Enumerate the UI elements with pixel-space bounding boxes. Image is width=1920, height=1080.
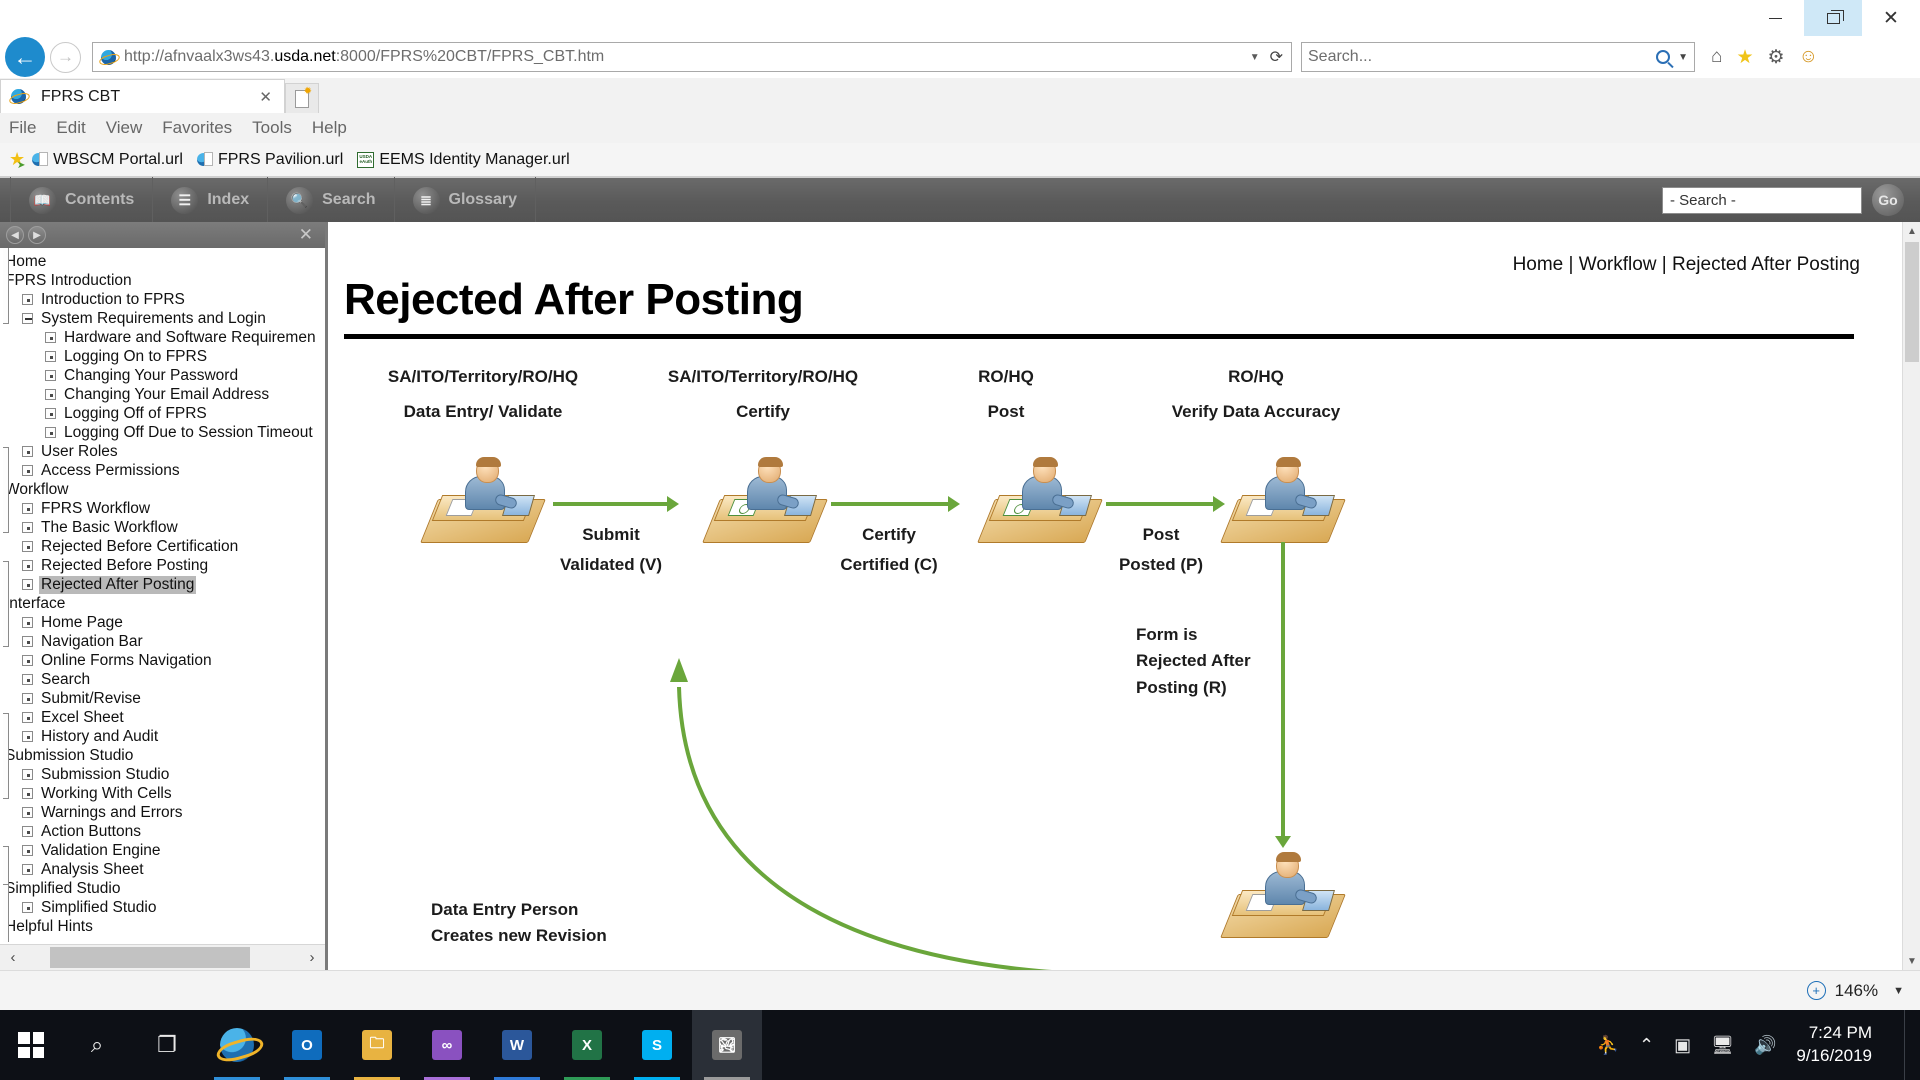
collapse-icon[interactable] [22,313,33,324]
toc-item-logging-off-of-fprs[interactable]: Logging Off of FPRS [0,404,325,423]
return-note-line1: Data Entry Person [431,897,607,923]
tree-node-icon[interactable] [3,561,9,647]
toc-item-label: Action Buttons [39,823,143,841]
outlook-glyph: O [292,1030,322,1060]
toc-item-online-forms-navigation[interactable]: Online Forms Navigation [0,651,325,670]
node-1-role: SA/ITO/Territory/RO/HQ [633,362,893,392]
toc-item-system-requirements-and-login[interactable]: System Requirements and Login [0,309,325,328]
cbt-search-label: Search [322,191,375,209]
toc-item-label: User Roles [39,443,120,461]
expand-icon[interactable] [22,693,33,704]
browser-window: ✕ ← → http://afnvaalx3ws43.usda.net:8000… [0,0,1920,1080]
expand-icon[interactable] [22,560,33,571]
toc-item-fprs-workflow[interactable]: FPRS Workflow [0,499,325,518]
toc-item-submission-studio[interactable]: Submission Studio [0,746,325,765]
toc-item-label: Working With Cells [39,785,174,803]
search-icon: 🔍 [286,187,313,214]
toc-item-user-roles[interactable]: User Roles [0,442,325,461]
node-2-role: RO/HQ [916,362,1096,392]
toc-item-rejected-before-certification[interactable]: Rejected Before Certification [0,537,325,556]
toc-item-label: Introduction to FPRS [39,291,187,309]
toc-item-label: Hardware and Software Requiremen [62,329,318,347]
expand-icon[interactable] [22,579,33,590]
taskbar-item-excel[interactable]: X [552,1010,622,1080]
toc-item-simplified-studio[interactable]: Simplified Studio [0,879,325,898]
toc-item-label: Online Forms Navigation [39,652,214,670]
toc-item-interface[interactable]: Interface [0,594,325,613]
workflow-diagram: SA/ITO/Territory/RO/HQ Data Entry/ Valid… [331,352,1902,970]
new-tab-button[interactable] [285,83,319,113]
menu-help[interactable]: Help [312,118,347,138]
excel-glyph: X [572,1030,602,1060]
toc-item-label: Logging On to FPRS [62,348,209,366]
toc-item-submit-revise[interactable]: Submit/Revise [0,689,325,708]
toc-item-label: Helpful Hints [3,918,95,936]
toc-item-label: Rejected After Posting [39,576,196,594]
toc-item-warnings-and-errors[interactable]: Warnings and Errors [0,803,325,822]
tree-node-icon[interactable] [3,447,9,533]
navigation-pane: ◀ ▶ ✕ HomeFPRS IntroductionIntroduction … [0,222,328,970]
clock-time: 7:24 PM [1796,1022,1872,1045]
ie-document-icon [32,152,48,168]
tree-node-icon[interactable] [3,248,9,324]
menu-edit[interactable]: Edit [56,118,85,138]
toc-item-hardware-and-software-requiremen[interactable]: Hardware and Software Requiremen [0,328,325,347]
transition-0-line2: Validated (V) [531,550,691,580]
word-glyph: W [502,1030,532,1060]
toc-item-label: Rejected Before Certification [39,538,240,556]
expand-icon[interactable] [45,408,56,419]
person-at-desk-icon-2 [986,457,1094,543]
word-icon: W [500,1028,534,1062]
expand-icon[interactable] [45,351,56,362]
toc-item-label: History and Audit [39,728,160,746]
toc-item-rejected-after-posting[interactable]: Rejected After Posting [0,575,325,594]
toc-item-analysis-sheet[interactable]: Analysis Sheet [0,860,325,879]
tab-fprs-cbt[interactable]: FPRS CBT ✕ [0,79,285,113]
transition-2-line1: Post [1086,520,1236,550]
transition-0-line1: Submit [531,520,691,550]
people-icon[interactable]: ⛹ [1597,1035,1619,1056]
node-3-action: Verify Data Accuracy [1121,397,1391,427]
content-vertical-scrollbar[interactable]: ▲ ▼ [1902,222,1920,970]
expand-icon[interactable] [22,902,33,913]
arrow-certify [831,502,949,506]
scroll-track[interactable] [26,945,299,971]
person-at-desk-icon-1 [711,457,819,543]
toc-item-label: Submit/Revise [39,690,143,708]
toc-item-introduction-to-fprs[interactable]: Introduction to FPRS [0,290,325,309]
minimize-button[interactable] [1746,0,1804,36]
toc-horizontal-scrollbar[interactable]: ‹ › [0,944,325,970]
chevron-up-icon[interactable]: ⌃ [1639,1035,1654,1056]
scroll-up-icon[interactable]: ▲ [1903,222,1920,240]
arrow-post [1106,502,1214,506]
toc-item-logging-on-to-fprs[interactable]: Logging On to FPRS [0,347,325,366]
search-icon: ⌕ [91,1032,103,1058]
toc-item-label: Submission Studio [39,766,171,784]
minimize-icon [1769,18,1782,19]
toc-item-home[interactable]: Home [0,252,325,271]
zoom-in-icon[interactable]: + [1807,981,1826,1000]
home-icon[interactable]: ⌂ [1711,46,1722,68]
expand-icon[interactable] [22,864,33,875]
tree-node-icon[interactable] [3,884,9,943]
arrow-submit [553,502,668,506]
cbt-search-button[interactable]: 🔍 Search [268,177,394,223]
expand-icon[interactable] [45,427,56,438]
toc-item-label: Home [3,253,48,271]
expand-icon[interactable] [22,769,33,780]
expand-icon[interactable] [22,617,33,628]
menu-tools[interactable]: Tools [252,118,292,138]
person-at-desk-icon-0 [429,457,537,543]
menu-bar: File Edit View Favorites Tools Help [0,113,1920,143]
cbt-glossary-label: Glossary [449,191,517,209]
toc-item-navigation-bar[interactable]: Navigation Bar [0,632,325,651]
transition-2-line2: Posted (P) [1086,550,1236,580]
expand-icon[interactable] [22,522,33,533]
toc-item-validation-engine[interactable]: Validation Engine [0,841,325,860]
menu-favorites[interactable]: Favorites [162,118,232,138]
usda-icon-bottom: eAuth [359,160,372,165]
volume-icon[interactable]: 🔊 [1754,1035,1776,1056]
expand-icon[interactable] [22,294,33,305]
ie-document-icon [197,152,213,168]
favorites-star-icon[interactable]: ★ [1736,46,1753,69]
add-favorite-icon[interactable]: ★ [9,149,25,170]
network-icon[interactable]: 🖥 [1711,1035,1734,1056]
file-explorer-icon: 🗀 [360,1028,394,1062]
feedback-smiley-icon[interactable]: ☺ [1799,46,1818,68]
cbt-glossary-button[interactable]: ≣ Glossary [395,177,536,223]
favorite-eems-identity-manager[interactable]: USDA eAuth EEMS Identity Manager.url [357,151,576,169]
toc-item-label: Analysis Sheet [39,861,146,879]
taskbar-apps: O🗀∞WXS🏞 [202,1010,762,1080]
visual-studio-icon: ∞ [430,1028,464,1062]
scroll-left-icon[interactable]: ‹ [0,945,26,971]
toc-item-workflow[interactable]: Workflow [0,480,325,499]
taskbar-item-word[interactable]: W [482,1010,552,1080]
transition-1-line2: Certified (C) [809,550,969,580]
skype-glyph: S [642,1030,672,1060]
page-title: Rejected After Posting [344,275,803,325]
start-button[interactable] [0,1010,62,1080]
person-at-desk-icon-4 [1229,852,1337,938]
cbt-go-button[interactable]: Go [1872,184,1904,216]
reject-note-line1: Form is [1136,622,1251,648]
expand-icon[interactable] [22,826,33,837]
toc-item-label: Interface [3,595,67,613]
ie-favicon-icon [100,49,117,66]
window-titlebar: ✕ [0,0,1920,36]
clock[interactable]: 7:24 PM 9/16/2019 [1796,1022,1884,1068]
cbt-contents-label: Contents [65,191,134,209]
zoom-level: 146% [1835,981,1878,1001]
cbt-index-label: Index [207,191,249,209]
tab-favicon-icon [10,88,27,105]
content-area: Home | Workflow | Rejected After Posting… [331,222,1902,970]
node-0-role: SA/ITO/Territory/RO/HQ [353,362,613,392]
tab-close-icon[interactable]: ✕ [253,88,278,106]
toc-item-access-permissions[interactable]: Access Permissions [0,461,325,480]
new-tab-icon [295,90,309,108]
toc-item-label: Logging Off of FPRS [62,405,209,423]
close-icon: ✕ [1883,9,1899,28]
clock-date: 9/16/2019 [1796,1045,1872,1068]
navigation-pane-header: ◀ ▶ ✕ [0,222,325,248]
toc-item-label: Home Page [39,614,125,632]
expand-icon[interactable] [22,503,33,514]
toc-item-label: Simplified Studio [39,899,158,917]
expand-icon[interactable] [22,807,33,818]
menu-file[interactable]: File [9,118,36,138]
favorite-wbscm-portal[interactable]: WBSCM Portal.url [32,151,190,169]
expand-icon[interactable] [22,845,33,856]
chevron-down-icon[interactable]: ▼ [1678,52,1688,63]
photos-icon: 🏞 [710,1028,744,1062]
cbt-search-input[interactable]: - Search - [1662,187,1862,214]
expand-icon[interactable] [22,465,33,476]
next-topic-icon[interactable]: ▶ [28,226,46,244]
system-tray: ⛹ ⌃ ▣ 🖥 🔊 7:24 PM 9/16/2019 [1597,1010,1920,1080]
visual-studio-glyph: ∞ [432,1030,462,1060]
toc-item-label: Workflow [3,481,70,499]
toc-tree[interactable]: HomeFPRS IntroductionIntroduction to FPR… [0,248,325,942]
taskbar-item-internet-explorer[interactable] [202,1010,272,1080]
toc-item-label: Changing Your Password [62,367,240,385]
expand-icon[interactable] [22,655,33,666]
scroll-down-icon[interactable]: ▼ [1903,952,1920,970]
file-explorer-glyph: 🗀 [362,1030,392,1060]
taskbar-task-view[interactable]: ❐ [132,1010,202,1080]
title-divider [344,334,1854,339]
excel-icon: X [570,1028,604,1062]
cbt-index-button[interactable]: ☰ Index [153,177,268,223]
person-at-desk-icon-3 [1229,457,1337,543]
tab-title: FPRS CBT [41,88,253,106]
usda-icon: USDA eAuth [357,152,374,168]
toc-item-label: Logging Off Due to Session Timeout [62,424,315,442]
taskbar-item-skype[interactable]: S [622,1010,692,1080]
search-icon[interactable] [1656,50,1670,64]
toc-item-action-buttons[interactable]: Action Buttons [0,822,325,841]
glossary-icon: ≣ [413,187,440,214]
photos-glyph: 🏞 [712,1030,742,1060]
toc-item-label: Changing Your Email Address [62,386,271,404]
return-note-line2: Creates new Revision [431,923,607,949]
toc-item-label: Simplified Studio [3,880,122,898]
toc-item-label: Submission Studio [3,747,135,765]
toc-item-label: Rejected Before Posting [39,557,210,575]
node-1-action: Certify [633,397,893,427]
skype-icon: S [640,1028,674,1062]
windows-logo-icon [18,1032,44,1058]
chevron-down-icon[interactable]: ▼ [1893,985,1904,997]
toc-item-label: Navigation Bar [39,633,145,651]
gear-icon[interactable]: ⚙ [1768,46,1785,69]
taskbar-item-file-explorer[interactable]: 🗀 [342,1010,412,1080]
taskbar-item-visual-studio[interactable]: ∞ [412,1010,482,1080]
expand-icon[interactable] [45,370,56,381]
node-2-action: Post [916,397,1096,427]
node-0-action: Data Entry/ Validate [353,397,613,427]
node-3-role: RO/HQ [1121,362,1391,392]
favorites-bar: ★ WBSCM Portal.url FPRS Pavilion.url USD… [0,143,1920,176]
arrow-reject [1281,542,1285,837]
taskbar-search[interactable]: ⌕ [62,1010,132,1080]
toc-item-label: Warnings and Errors [39,804,185,822]
index-icon: ☰ [171,187,198,214]
scroll-right-icon[interactable]: › [299,945,325,971]
browser-toolbar-icons: ⌂ ★ ⚙ ☺ [1711,46,1818,69]
url-text: http://afnvaalx3ws43.usda.net:8000/FPRS%… [124,48,1240,66]
toc-item-label: Access Permissions [39,462,182,480]
cbt-search-area: - Search - Go [1662,184,1920,216]
favorite-label: FPRS Pavilion.url [218,151,343,169]
favorite-fprs-pavilion[interactable]: FPRS Pavilion.url [197,151,350,169]
expand-icon[interactable] [45,389,56,400]
expand-icon[interactable] [22,712,33,723]
internet-explorer-glyph [220,1028,254,1062]
favorite-label: EEMS Identity Manager.url [379,151,569,169]
taskbar-item-photos[interactable]: 🏞 [692,1010,762,1080]
expand-icon[interactable] [22,731,33,742]
toc-item-fprs-introduction[interactable]: FPRS Introduction [0,271,325,290]
task-view-icon: ❐ [157,1032,177,1058]
toc-item-rejected-before-posting[interactable]: Rejected Before Posting [0,556,325,575]
toc-item-helpful-hints[interactable]: Helpful Hints [0,917,325,936]
tab-strip: FPRS CBT ✕ [0,78,1920,113]
chevron-down-icon[interactable]: ▼ [1240,52,1270,63]
favorite-label: WBSCM Portal.url [53,151,183,169]
status-bar: + 146% ▼ [0,970,1920,1010]
toc-item-search[interactable]: Search [0,670,325,689]
outlook-icon: O [290,1028,324,1062]
expand-icon[interactable] [22,541,33,552]
restore-button[interactable] [1804,0,1862,36]
back-button[interactable]: ← [5,37,45,77]
close-pane-icon[interactable]: ✕ [299,225,319,245]
internet-explorer-icon [220,1028,254,1062]
toc-item-label: FPRS Introduction [3,272,134,290]
refresh-icon[interactable]: ⟳ [1270,47,1287,67]
battery-icon[interactable]: ▣ [1674,1035,1691,1056]
toc-item-label: FPRS Workflow [39,500,152,518]
restore-icon [1827,13,1840,24]
forward-button[interactable]: → [50,42,81,73]
arrow-return-revision [661,652,1221,970]
expand-icon[interactable] [22,788,33,799]
show-desktop-button[interactable] [1904,1010,1912,1080]
address-bar-row: ← → http://afnvaalx3ws43.usda.net:8000/F… [0,36,1920,78]
taskbar-item-outlook[interactable]: O [272,1010,342,1080]
toc-item-changing-your-password[interactable]: Changing Your Password [0,366,325,385]
breadcrumb[interactable]: Home | Workflow | Rejected After Posting [1513,254,1860,276]
toc-item-label: Excel Sheet [39,709,126,727]
expand-icon[interactable] [22,674,33,685]
browser-search-placeholder: Search... [1308,48,1656,66]
expand-icon[interactable] [45,332,56,343]
expand-icon[interactable] [22,636,33,647]
transition-1-line1: Certify [809,520,969,550]
scroll-thumb[interactable] [50,947,250,968]
toc-item-logging-off-due-to-session-timeout[interactable]: Logging Off Due to Session Timeout [0,423,325,442]
toc-item-label: System Requirements and Login [39,310,268,328]
close-button[interactable]: ✕ [1862,0,1920,36]
toc-item-label: Search [39,671,92,689]
toc-item-label: The Basic Workflow [39,519,180,537]
toc-item-changing-your-email-address[interactable]: Changing Your Email Address [0,385,325,404]
toc-item-label: Validation Engine [39,842,163,860]
taskbar: ⌕ ❐ O🗀∞WXS🏞 ⛹ ⌃ ▣ 🖥 🔊 7:24 PM 9/16/2019 [0,1010,1920,1080]
toc-item-the-basic-workflow[interactable]: The Basic Workflow [0,518,325,537]
toc-item-history-and-audit[interactable]: History and Audit [0,727,325,746]
tree-node-icon[interactable] [3,713,9,799]
scroll-thumb[interactable] [1905,242,1919,362]
browser-search-input[interactable]: Search... ▼ [1301,42,1695,72]
toc-item-simplified-studio[interactable]: Simplified Studio [0,898,325,917]
toc-item-submission-studio[interactable]: Submission Studio [0,765,325,784]
toc-item-working-with-cells[interactable]: Working With Cells [0,784,325,803]
address-bar[interactable]: http://afnvaalx3ws43.usda.net:8000/FPRS%… [92,42,1292,72]
cbt-contents-button[interactable]: 📖 Contents [10,177,153,223]
expand-icon[interactable] [22,446,33,457]
book-icon: 📖 [29,187,56,214]
menu-view[interactable]: View [106,118,143,138]
toc-item-excel-sheet[interactable]: Excel Sheet [0,708,325,727]
window-controls: ✕ [1746,0,1920,36]
prev-topic-icon[interactable]: ◀ [6,226,24,244]
toc-item-home-page[interactable]: Home Page [0,613,325,632]
return-note: Data Entry Person Creates new Revision [431,897,607,950]
cbt-toolbar: 📖 Contents ☰ Index 🔍 Search ≣ Glossary -… [0,176,1920,222]
